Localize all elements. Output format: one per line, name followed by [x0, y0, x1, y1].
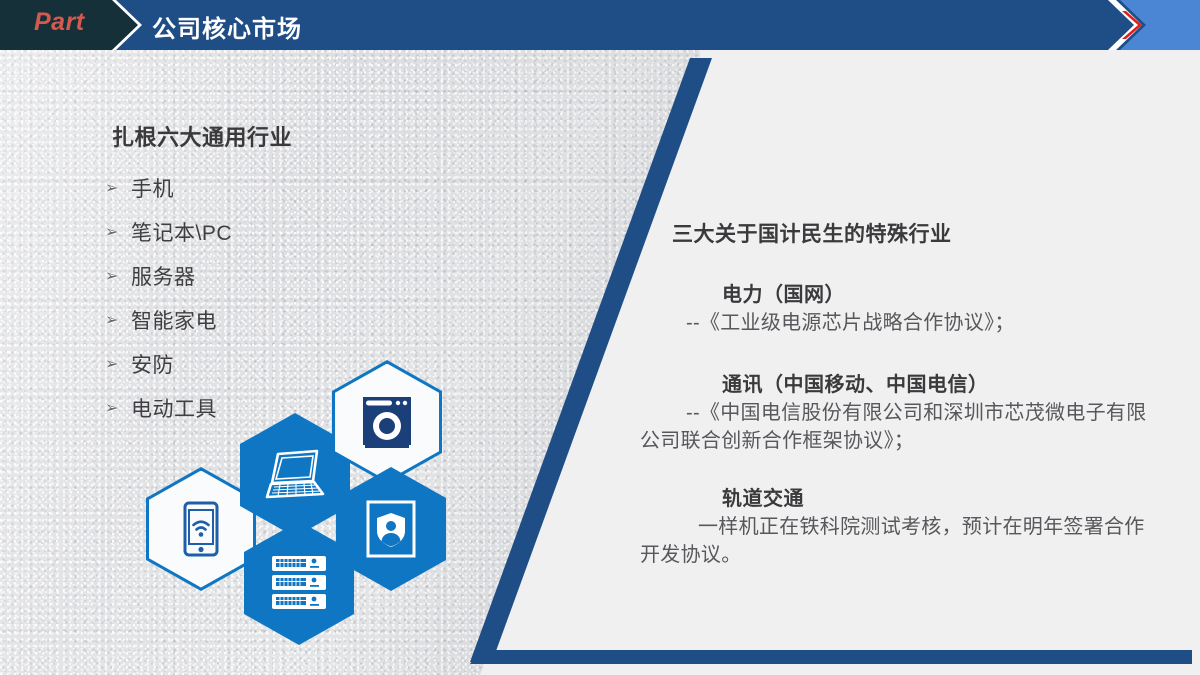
section-title: 通讯（中国移动、中国电信） [722, 368, 1150, 397]
section-telecom: 通讯（中国移动、中国电信） --《中国电信股份有限公司和深圳市芯茂微电子有限公司… [640, 368, 1150, 455]
bottom-accent-bar [470, 650, 1192, 664]
industry-icon-cluster [140, 355, 470, 630]
slide-canvas: Part 公司核心市场 扎根六大通用行业 ➢ 手机 ➢ 笔记本\PC ➢ 服务器… [0, 0, 1200, 675]
right-heading: 三大关于国计民生的特殊行业 [672, 218, 952, 248]
list-item-label: 智能家电 [131, 305, 217, 335]
arrow-bullet-icon: ➢ [105, 356, 131, 372]
list-item-label: 手机 [131, 173, 174, 203]
hex-tile-server[interactable] [244, 521, 354, 645]
section-title: 电力（国网） [722, 278, 1150, 307]
arrow-bullet-icon: ➢ [105, 400, 131, 416]
list-item[interactable]: ➢ 智能家电 [105, 298, 435, 342]
washing-machine-icon [332, 360, 442, 484]
left-heading: 扎根六大通用行业 [112, 120, 292, 152]
section-body: 一样机正在铁科院测试考核，预计在明年签署合作开发协议。 [640, 514, 1150, 569]
server-rack-icon [244, 521, 354, 645]
arrow-bullet-icon: ➢ [105, 224, 131, 240]
list-item[interactable]: ➢ 手机 [105, 166, 435, 210]
arrow-bullet-icon: ➢ [105, 180, 131, 196]
list-item[interactable]: ➢ 笔记本\PC [105, 210, 435, 254]
list-item-label: 服务器 [131, 261, 196, 291]
section-body: --《工业级电源芯片战略合作协议》； [640, 310, 1150, 338]
section-body: --《中国电信股份有限公司和深圳市芯茂微电子有限公司联合创新合作框架协议》； [640, 400, 1150, 455]
slide-header: Part 公司核心市场 [0, 0, 1200, 50]
hex-tile-washing-machine[interactable] [332, 360, 442, 484]
section-title: 轨道交通 [722, 482, 1150, 511]
section-power: 电力（国网） --《工业级电源芯片战略合作协议》； [640, 278, 1150, 338]
section-rail: 轨道交通 一样机正在铁科院测试考核，预计在明年签署合作开发协议。 [640, 482, 1150, 569]
page-title: 公司核心市场 [152, 9, 302, 44]
header-part-label: Part [34, 8, 85, 37]
list-item[interactable]: ➢ 服务器 [105, 254, 435, 298]
list-item-label: 笔记本\PC [131, 217, 232, 247]
arrow-bullet-icon: ➢ [105, 268, 131, 284]
arrow-bullet-icon: ➢ [105, 312, 131, 328]
